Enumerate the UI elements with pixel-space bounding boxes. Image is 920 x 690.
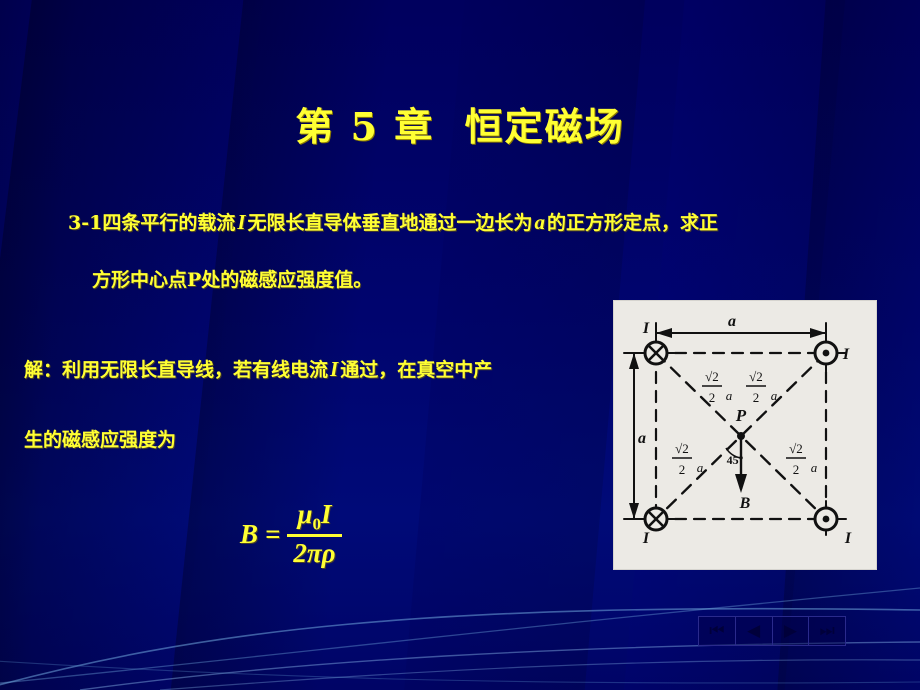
- label-current-bottom-right: I: [844, 530, 852, 547]
- page-title: 第 5 章 恒定磁场: [0, 96, 920, 151]
- label-field-B: B: [739, 495, 751, 512]
- presentation-slide: 第 5 章 恒定磁场 3-1四条平行的载流I无限长直导体垂直地通过一边长为a的正…: [0, 0, 920, 690]
- previous-slide-button[interactable]: ◀: [736, 617, 773, 645]
- frac-denominator: 2: [679, 462, 686, 477]
- solution-line-1: 解：利用无限长直导线，若有线电流I通过，在真空中产: [24, 355, 492, 382]
- skip-forward-icon: ⏭: [819, 623, 834, 640]
- frac-suffix: a: [726, 388, 733, 403]
- frac-suffix: a: [811, 460, 818, 475]
- triangle-right-icon: ▶: [784, 623, 797, 640]
- problem-variable-current: I: [235, 210, 247, 234]
- solution-variable-current: I: [328, 357, 340, 381]
- problem-number: 3-1: [68, 212, 102, 234]
- slide-navigation-bar[interactable]: ⏮ ◀ ▶ ⏭: [698, 616, 846, 646]
- frac-denominator: 2: [753, 390, 760, 405]
- frac-numerator: √2: [675, 441, 689, 456]
- solution-line1-part-b: 通过，在真空中产: [340, 359, 492, 381]
- frac-numerator: √2: [789, 441, 803, 456]
- formula-equals: =: [265, 519, 280, 550]
- corner-symbol-top-left: [645, 342, 667, 364]
- formula-mu: μ: [297, 499, 312, 529]
- frac-suffix: a: [771, 388, 778, 403]
- formula-fraction: μ0I 2πρ: [287, 500, 341, 568]
- last-slide-button[interactable]: ⏭: [809, 617, 845, 645]
- triangle-left-icon: ◀: [747, 623, 760, 640]
- formula-numerator: μ0I: [291, 500, 337, 534]
- frac-numerator: √2: [705, 369, 719, 384]
- label-side-top: a: [728, 313, 736, 330]
- next-slide-button[interactable]: ▶: [773, 617, 810, 645]
- problem-line1-part-b: 无限长直导体垂直地通过一边长为: [248, 212, 533, 234]
- frac-numerator: √2: [749, 369, 763, 384]
- corner-symbol-bottom-right: [815, 508, 837, 530]
- corner-symbol-bottom-left: [645, 508, 667, 530]
- skip-back-icon: ⏮: [709, 623, 724, 640]
- formula-current: I: [321, 499, 332, 529]
- diagram-svg: a a I I I I P B 45° √2 2 a √2: [614, 301, 877, 570]
- label-angle-45: 45°: [727, 453, 744, 467]
- formula-mu-subscript: 0: [312, 514, 321, 533]
- formula-lhs: B: [240, 519, 258, 550]
- problem-statement-line-1: 3-1四条平行的载流I无限长直导体垂直地通过一边长为a的正方形定点，求正: [68, 208, 718, 235]
- label-point-P: P: [735, 406, 747, 425]
- frac-denominator: 2: [793, 462, 800, 477]
- label-current-top-right: I: [842, 346, 850, 363]
- label-side-left: a: [638, 430, 646, 447]
- solution-line1-part-a: 解：利用无限长直导线，若有线电流: [24, 359, 328, 381]
- problem-variable-side: a: [533, 210, 548, 234]
- solution-line-2: 生的磁感应强度为: [24, 425, 176, 452]
- problem-line1-part-c: 的正方形定点，求正: [547, 212, 718, 234]
- problem-statement-line-2: 方形中心点P处的磁感应强度值。: [92, 265, 372, 292]
- label-current-bottom-left: I: [642, 530, 650, 547]
- first-slide-button[interactable]: ⏮: [699, 617, 736, 645]
- label-current-top-left: I: [642, 320, 650, 337]
- frac-denominator: 2: [709, 390, 716, 405]
- corner-symbol-top-right: [815, 342, 837, 364]
- square-conductors-diagram: a a I I I I P B 45° √2 2 a √2: [613, 300, 877, 570]
- frac-suffix: a: [697, 460, 704, 475]
- formula-denominator: 2πρ: [287, 537, 341, 568]
- magnetic-field-formula: B = μ0I 2πρ: [240, 500, 342, 568]
- problem-line1-part-a: 四条平行的载流: [102, 212, 235, 234]
